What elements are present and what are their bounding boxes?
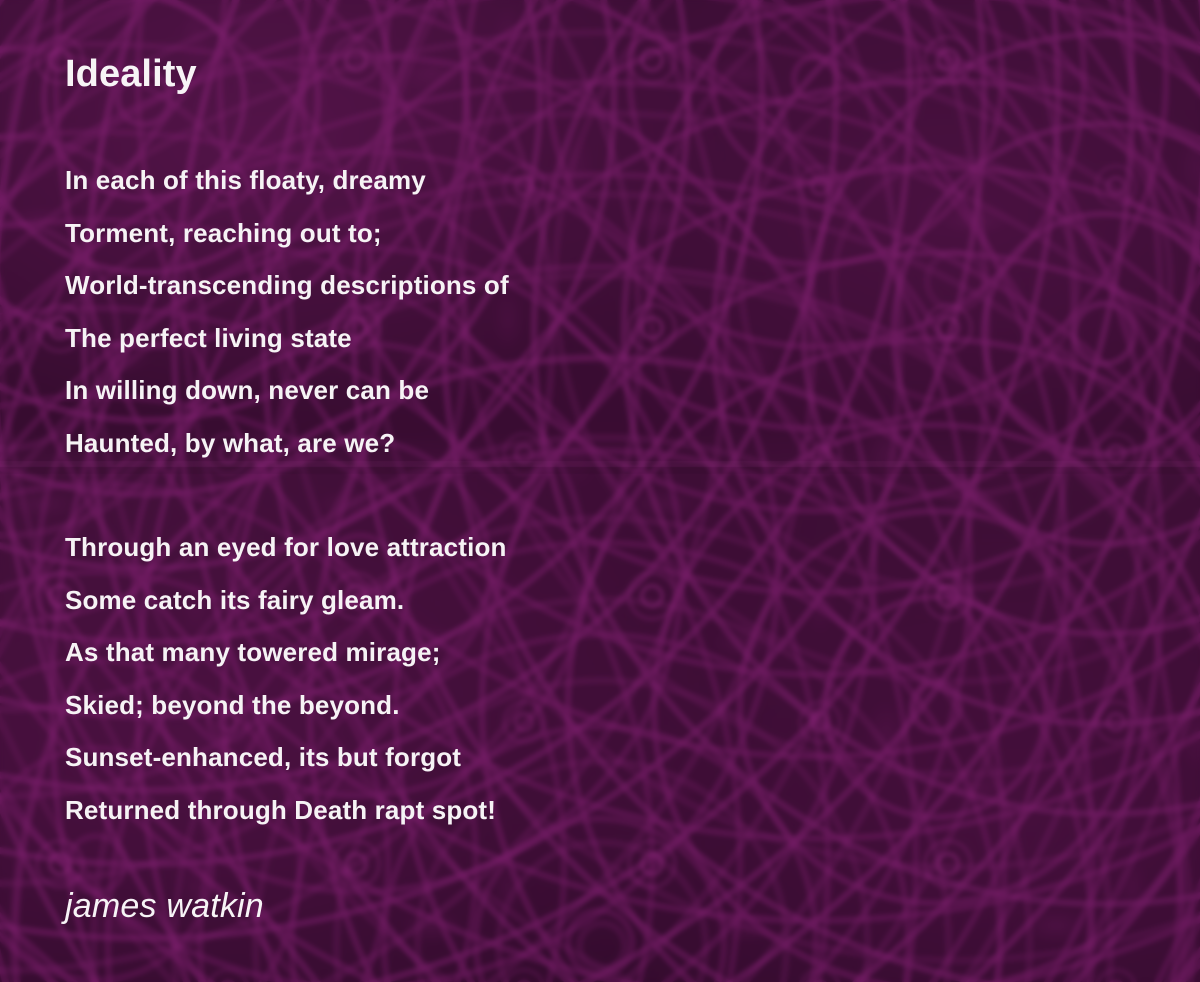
poem-line: The perfect living state: [65, 312, 1160, 365]
poem-card: Ideality In each of this floaty, dreamy …: [0, 0, 1200, 982]
poem-line: In each of this floaty, dreamy: [65, 154, 1160, 207]
poem-stanza: In each of this floaty, dreamy Torment, …: [65, 154, 1160, 469]
poem-stanza: Through an eyed for love attraction Some…: [65, 521, 1160, 836]
poem-line: In willing down, never can be: [65, 364, 1160, 417]
poem-line: Returned through Death rapt spot!: [65, 784, 1160, 837]
poem-line: Haunted, by what, are we?: [65, 417, 1160, 470]
poem-content: Ideality In each of this floaty, dreamy …: [65, 0, 1160, 982]
poem-line: Sunset-enhanced, its but forgot: [65, 731, 1160, 784]
poem-line: World-transcending descriptions of: [65, 259, 1160, 312]
poem-line: Skied; beyond the beyond.: [65, 679, 1160, 732]
poem-line: Torment, reaching out to;: [65, 207, 1160, 260]
poem-title: Ideality: [65, 52, 197, 96]
poem-line: Through an eyed for love attraction: [65, 521, 1160, 574]
poem-author: james watkin: [65, 884, 264, 928]
poem-line: As that many towered mirage;: [65, 626, 1160, 679]
poem-line: Some catch its fairy gleam.: [65, 574, 1160, 627]
poem-body: In each of this floaty, dreamy Torment, …: [65, 154, 1160, 888]
